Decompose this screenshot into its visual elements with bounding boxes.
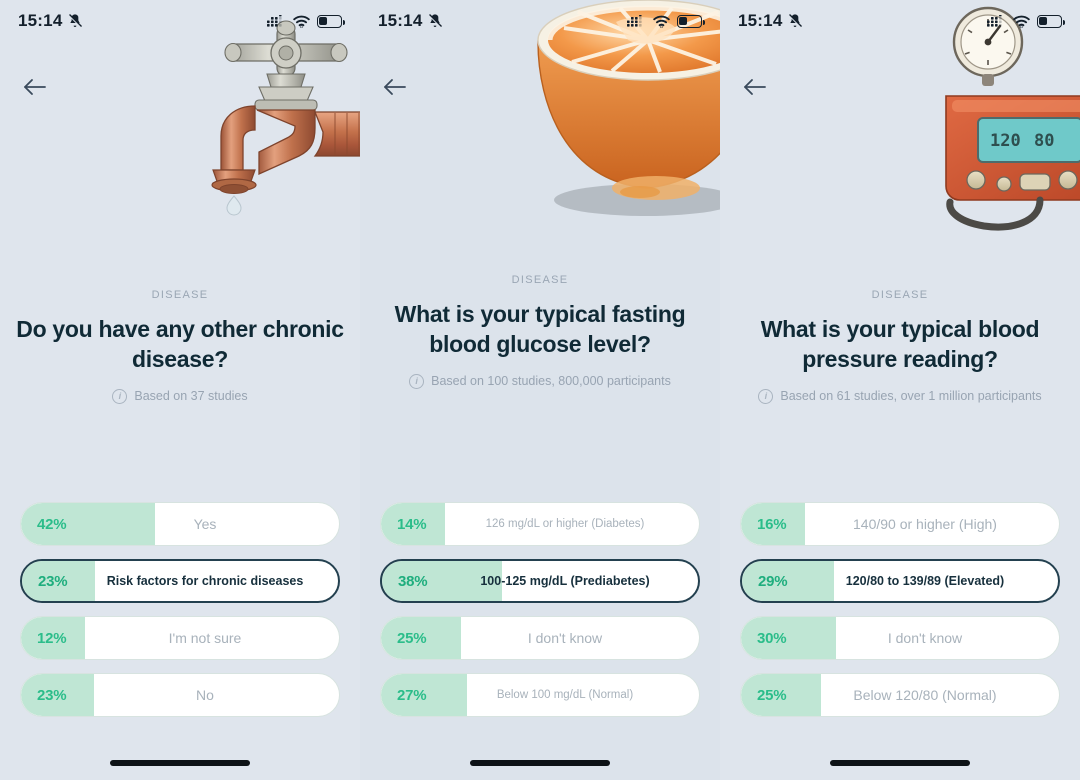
evidence-subtitle: i Based on 100 studies, 800,000 particip… bbox=[376, 374, 704, 389]
wifi-icon bbox=[653, 15, 670, 28]
home-indicator[interactable] bbox=[470, 760, 610, 766]
question-title: What is your typical blood pressure read… bbox=[736, 314, 1064, 375]
answer-option[interactable]: 30% I don't know bbox=[740, 616, 1060, 660]
answer-option[interactable]: 27% Below 100 mg/dL (Normal) bbox=[380, 673, 700, 717]
answer-option[interactable]: 25% Below 120/80 (Normal) bbox=[740, 673, 1060, 717]
cellular-signal-icon bbox=[987, 15, 1006, 28]
answer-label: Below 120/80 (Normal) bbox=[805, 687, 1059, 703]
back-button[interactable] bbox=[738, 72, 772, 106]
answer-percent: 38% bbox=[382, 573, 446, 590]
answer-label: I don't know bbox=[805, 630, 1059, 646]
answer-percent: 14% bbox=[381, 516, 445, 533]
answer-option[interactable]: 25% I don't know bbox=[380, 616, 700, 660]
answer-option[interactable]: 16% 140/90 or higher (High) bbox=[740, 502, 1060, 546]
answer-option-selected[interactable]: 29% 120/80 to 139/89 (Elevated) bbox=[740, 559, 1060, 603]
answer-label: 126 mg/dL or higher (Diabetes) bbox=[445, 518, 699, 530]
status-time: 15:14 bbox=[378, 11, 422, 31]
answer-label: I'm not sure bbox=[85, 630, 339, 646]
answer-list: 42% Yes 23% Risk factors for chronic dis… bbox=[20, 502, 340, 717]
status-bar: 15:14 bbox=[0, 0, 360, 42]
battery-low-icon bbox=[677, 15, 702, 28]
back-arrow-icon bbox=[743, 78, 767, 101]
answer-label: 100-125 mg/dL (Prediabetes) bbox=[446, 574, 698, 588]
info-circle-icon[interactable]: i bbox=[112, 389, 127, 404]
answer-percent: 23% bbox=[21, 687, 85, 704]
info-circle-icon[interactable]: i bbox=[758, 389, 773, 404]
answer-option[interactable]: 12% I'm not sure bbox=[20, 616, 340, 660]
answer-percent: 25% bbox=[741, 687, 805, 704]
wifi-icon bbox=[1013, 15, 1030, 28]
question-block: DISEASE What is your typical fasting blo… bbox=[360, 274, 720, 389]
status-bar-left: 15:14 bbox=[378, 11, 443, 31]
category-kicker: DISEASE bbox=[736, 289, 1064, 301]
answer-percent: 23% bbox=[22, 573, 86, 590]
answer-label: I don't know bbox=[445, 630, 699, 646]
status-bar: 15:14 bbox=[360, 0, 720, 42]
answer-label: Below 100 mg/dL (Normal) bbox=[445, 689, 699, 701]
bell-muted-icon bbox=[787, 13, 803, 29]
answer-percent: 42% bbox=[21, 516, 85, 533]
status-bar: 15:14 bbox=[720, 0, 1080, 42]
answer-label: No bbox=[85, 687, 339, 703]
evidence-subtitle: i Based on 61 studies, over 1 million pa… bbox=[736, 389, 1064, 404]
answer-percent: 16% bbox=[741, 516, 805, 533]
answer-label: Yes bbox=[85, 516, 339, 532]
back-button[interactable] bbox=[378, 72, 412, 106]
status-time: 15:14 bbox=[18, 11, 62, 31]
answer-option[interactable]: 14% 126 mg/dL or higher (Diabetes) bbox=[380, 502, 700, 546]
category-kicker: DISEASE bbox=[16, 289, 344, 301]
evidence-text: Based on 61 studies, over 1 million part… bbox=[780, 389, 1041, 403]
answer-label: 140/90 or higher (High) bbox=[805, 516, 1059, 532]
evidence-text: Based on 37 studies bbox=[134, 389, 247, 403]
wifi-icon bbox=[293, 15, 310, 28]
evidence-text: Based on 100 studies, 800,000 participan… bbox=[431, 374, 671, 388]
question-title: What is your typical fasting blood gluco… bbox=[376, 299, 704, 360]
status-bar-left: 15:14 bbox=[18, 11, 83, 31]
survey-screen-2: 15:14 bbox=[360, 0, 720, 780]
question-block: DISEASE What is your typical blood press… bbox=[720, 289, 1080, 404]
answer-option-selected[interactable]: 38% 100-125 mg/dL (Prediabetes) bbox=[380, 559, 700, 603]
svg-text:80: 80 bbox=[1034, 131, 1054, 151]
answer-option[interactable]: 42% Yes bbox=[20, 502, 340, 546]
category-kicker: DISEASE bbox=[376, 274, 704, 286]
answer-percent: 30% bbox=[741, 630, 805, 647]
home-indicator[interactable] bbox=[110, 760, 250, 766]
home-indicator[interactable] bbox=[830, 760, 970, 766]
answer-label: 120/80 to 139/89 (Elevated) bbox=[806, 574, 1058, 588]
bell-muted-icon bbox=[67, 13, 83, 29]
question-block: DISEASE Do you have any other chronic di… bbox=[0, 289, 360, 404]
status-bar-left: 15:14 bbox=[738, 11, 803, 31]
back-arrow-icon bbox=[23, 78, 47, 101]
answer-label: Risk factors for chronic diseases bbox=[86, 574, 338, 588]
answer-list: 14% 126 mg/dL or higher (Diabetes) 38% 1… bbox=[380, 502, 700, 717]
answer-percent: 12% bbox=[21, 630, 85, 647]
status-time: 15:14 bbox=[738, 11, 782, 31]
svg-text:120: 120 bbox=[990, 131, 1021, 151]
battery-low-icon bbox=[1037, 15, 1062, 28]
answer-percent: 29% bbox=[742, 573, 806, 590]
survey-screen-1: 15:14 bbox=[0, 0, 360, 780]
cellular-signal-icon bbox=[627, 15, 646, 28]
answer-list: 16% 140/90 or higher (High) 29% 120/80 t… bbox=[740, 502, 1060, 717]
back-arrow-icon bbox=[383, 78, 407, 101]
status-bar-right bbox=[987, 15, 1062, 28]
info-circle-icon[interactable]: i bbox=[409, 374, 424, 389]
status-bar-right bbox=[267, 15, 342, 28]
question-title: Do you have any other chronic disease? bbox=[16, 314, 344, 375]
answer-percent: 25% bbox=[381, 630, 445, 647]
cellular-signal-icon bbox=[267, 15, 286, 28]
evidence-subtitle: i Based on 37 studies bbox=[16, 389, 344, 404]
status-bar-right bbox=[627, 15, 702, 28]
back-button[interactable] bbox=[18, 72, 52, 106]
survey-screen-3: 15:14 bbox=[720, 0, 1080, 780]
battery-low-icon bbox=[317, 15, 342, 28]
answer-option-selected[interactable]: 23% Risk factors for chronic diseases bbox=[20, 559, 340, 603]
faucet-illustration bbox=[195, 12, 360, 262]
answer-option[interactable]: 23% No bbox=[20, 673, 340, 717]
bell-muted-icon bbox=[427, 13, 443, 29]
answer-percent: 27% bbox=[381, 687, 445, 704]
screen-gallery: 15:14 bbox=[0, 0, 1080, 780]
